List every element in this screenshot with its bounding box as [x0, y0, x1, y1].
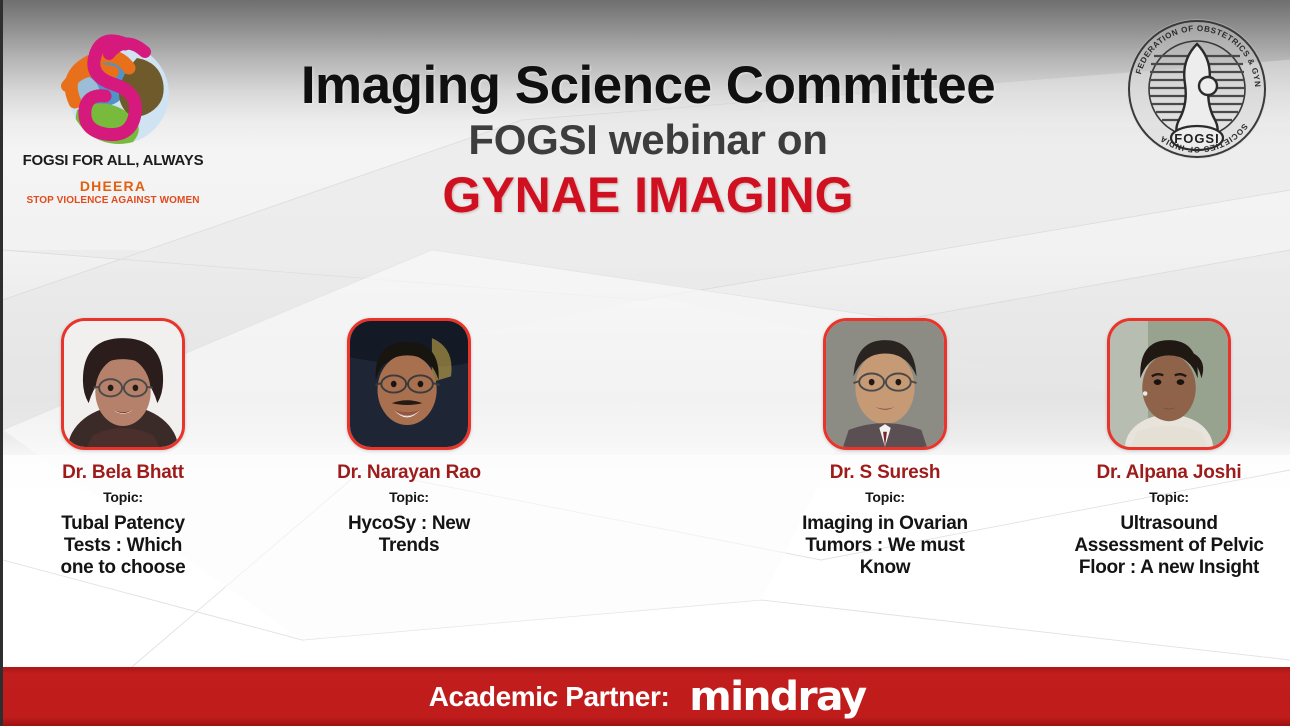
speaker-card-2: Dr. Narayan Rao Topic: HycoSy : New Tren… — [289, 318, 529, 557]
fogsi-campaign-name: DHEERA — [13, 178, 213, 194]
speaker-photo-4 — [1107, 318, 1231, 450]
mindray-logo: mindray — [690, 674, 866, 720]
speaker-photo-1 — [61, 318, 185, 450]
speaker-name-3: Dr. S Suresh — [765, 463, 1005, 484]
title-block: Imaging Science Committee FOGSI webinar … — [203, 58, 1093, 222]
speaker-topic-1: Tubal Patency Tests : Which one to choos… — [3, 513, 243, 580]
page-topic-title: GYNAE IMAGING — [203, 169, 1093, 222]
fogsi-seal-logo: FOGSI FEDERATION OF OBSTETRICS & GYNECOL… — [1122, 14, 1272, 164]
speaker-photo-2 — [347, 318, 471, 450]
speaker-card-4: Dr. Alpana Joshi Topic: Ultrasound Asses… — [1045, 318, 1290, 580]
page-subtitle: FOGSI webinar on — [203, 118, 1093, 163]
webinar-poster: FOGSI FOR ALL, ALWAYS DHEERA STOP VIOLEN… — [0, 0, 1290, 726]
speaker-topic-label-4: Topic: — [1045, 489, 1290, 505]
poster-header: FOGSI FOR ALL, ALWAYS DHEERA STOP VIOLEN… — [3, 0, 1290, 250]
speaker-card-3: Dr. S Suresh Topic: Imaging in Ovarian T… — [765, 318, 1005, 580]
fogsi-tagline-primary: FOGSI FOR ALL, ALWAYS — [13, 152, 213, 169]
speaker-name-1: Dr. Bela Bhatt — [3, 463, 243, 484]
speaker-topic-2: HycoSy : New Trends — [289, 513, 529, 557]
speaker-topic-label-2: Topic: — [289, 489, 529, 505]
speaker-topic-label-1: Topic: — [3, 489, 243, 505]
speaker-topic-4: Ultrasound Assessment of Pelvic Floor : … — [1045, 513, 1290, 580]
speaker-name-4: Dr. Alpana Joshi — [1045, 463, 1290, 484]
page-title: Imaging Science Committee — [203, 58, 1093, 114]
speaker-card-1: Dr. Bela Bhatt Topic: Tubal Patency Test… — [3, 318, 243, 580]
speaker-photo-3 — [823, 318, 947, 450]
academic-partner-label: Academic Partner: — [429, 681, 670, 713]
speaker-topic-3: Imaging in Ovarian Tumors : We must Know — [765, 513, 1005, 580]
speaker-topic-label-3: Topic: — [765, 489, 1005, 505]
fogsi-campaign-slogan: STOP VIOLENCE AGAINST WOMEN — [3, 195, 223, 206]
fogsi-swirl-globe-logo — [33, 18, 198, 163]
academic-partner-banner: Academic Partner: mindray — [3, 667, 1290, 726]
speaker-list: Dr. Bela Bhatt Topic: Tubal Patency Test… — [3, 318, 1290, 618]
speaker-name-2: Dr. Narayan Rao — [289, 463, 529, 484]
